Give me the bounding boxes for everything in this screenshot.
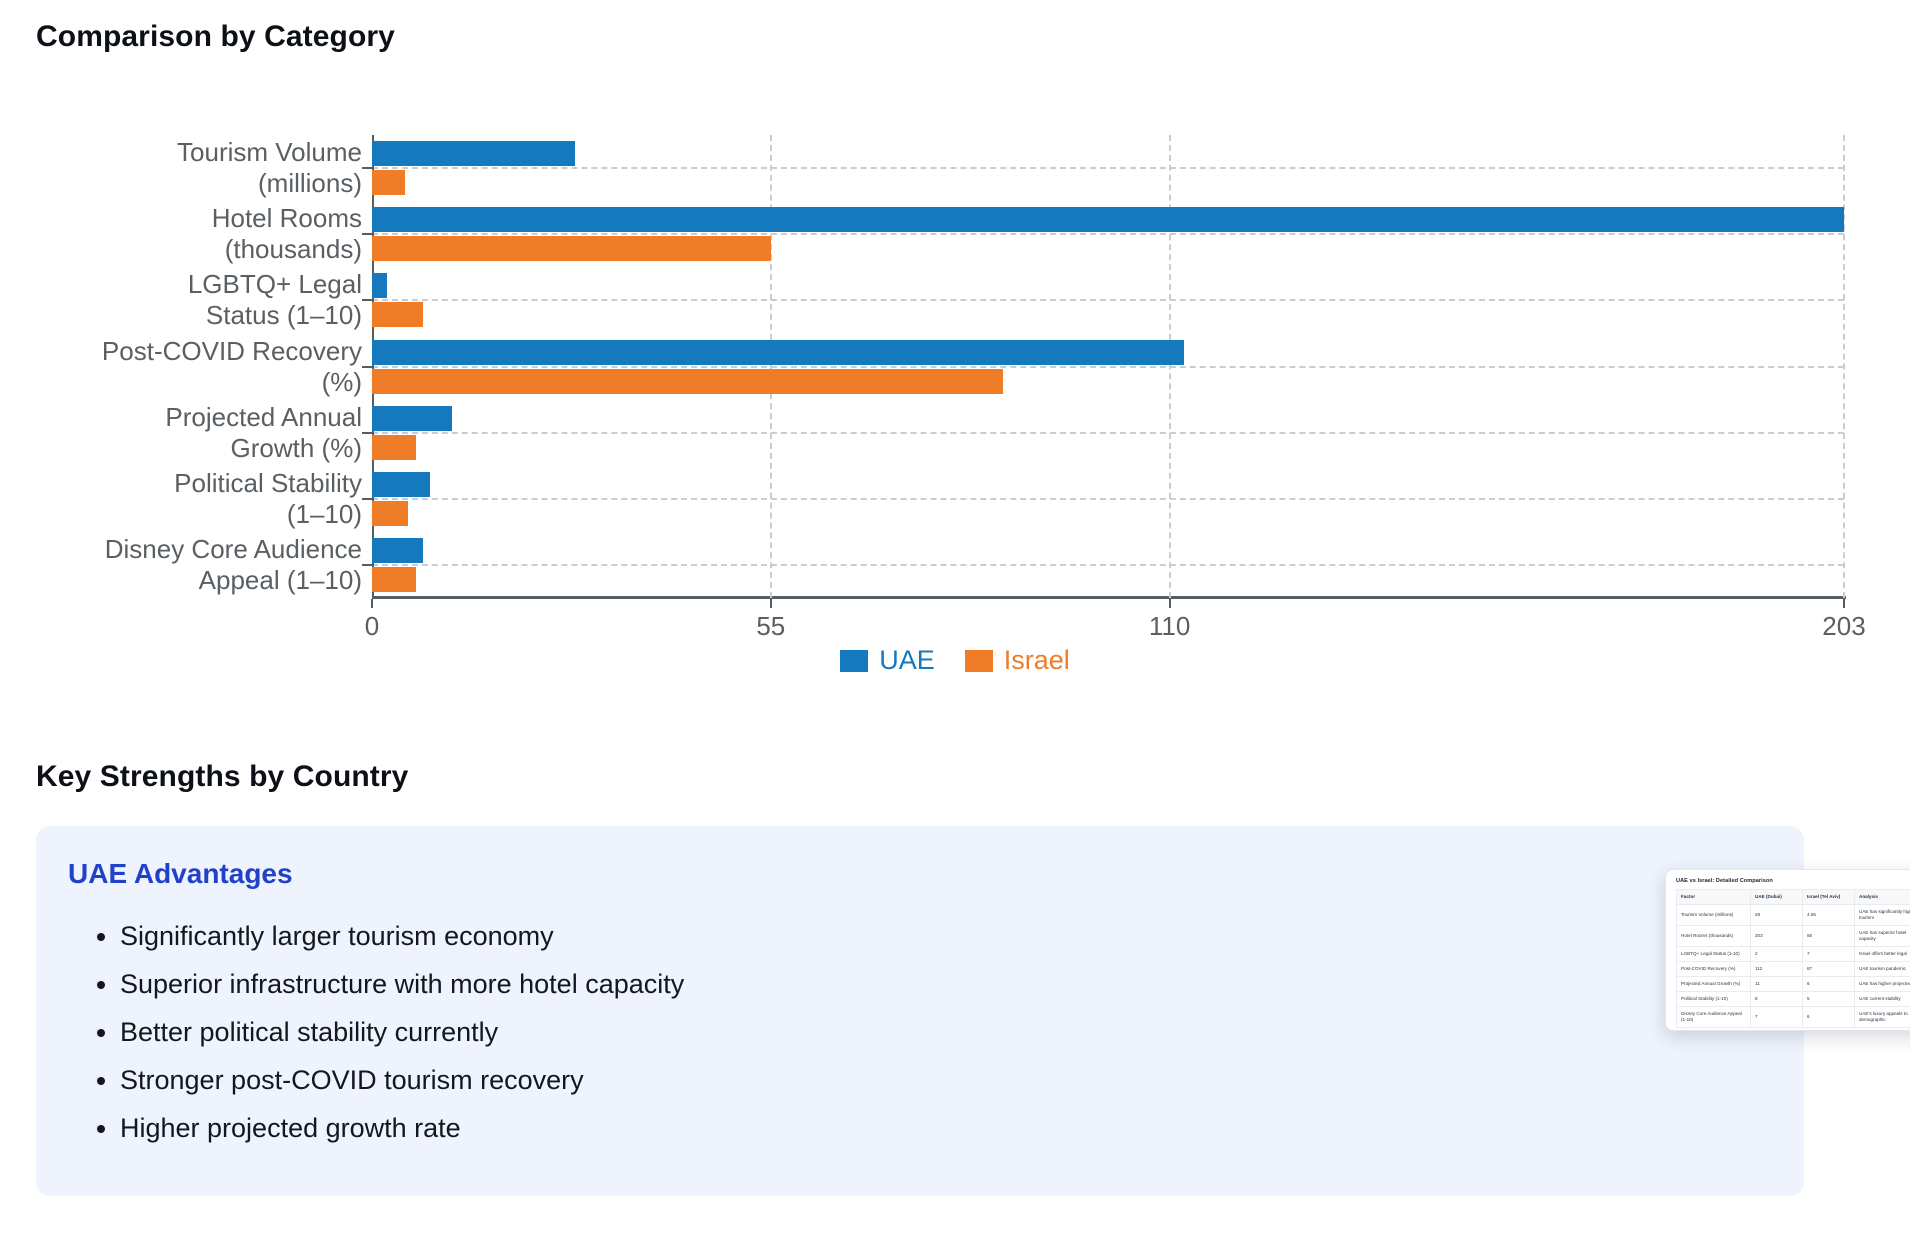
- y-axis-label-3: Post-COVID Recovery (%): [0, 336, 362, 398]
- page-title: Comparison by Category: [36, 20, 395, 54]
- table-cell: 87: [1803, 962, 1855, 977]
- table-cell: Disney Core Audience Appeal (1-10): [1677, 1007, 1751, 1028]
- panel-heading: UAE Advantages: [68, 858, 293, 890]
- bar-israel-5[interactable]: [372, 501, 408, 526]
- bar-uae-0[interactable]: [372, 141, 575, 166]
- gridline-y-5: [372, 498, 1844, 500]
- y-axis-label-5: Political Stability (1–10): [0, 468, 362, 530]
- bar-israel-6[interactable]: [372, 567, 416, 592]
- thumbnail-table: FactorUAE (Dubai)Israel (Tel Aviv)Analys…: [1676, 889, 1910, 1028]
- x-tick-110: [1169, 599, 1171, 608]
- bar-uae-3[interactable]: [372, 340, 1184, 365]
- legend-item-uae[interactable]: UAE: [840, 645, 935, 676]
- gridline-y-6: [372, 564, 1844, 566]
- x-tick-55: [770, 599, 772, 608]
- table-cell: 6: [1803, 977, 1855, 992]
- y-axis-label-4: Projected Annual Growth (%): [0, 402, 362, 464]
- table-cell: UAE has higher projected: [1855, 977, 1910, 992]
- legend-swatch-uae: [840, 650, 868, 672]
- table-cell: 56: [1803, 926, 1855, 947]
- table-column-header: Israel (Tel Aviv): [1803, 890, 1855, 905]
- table-cell: 112: [1751, 962, 1803, 977]
- x-tick-label-203: 203: [1822, 611, 1865, 642]
- x-tick-label-55: 55: [756, 611, 785, 642]
- legend-swatch-israel: [965, 650, 993, 672]
- x-tick-0: [371, 599, 373, 608]
- y-tick-4: [362, 432, 374, 434]
- y-axis-label-2: LGBTQ+ Legal Status (1–10): [0, 269, 362, 331]
- gridline-y-4: [372, 432, 1844, 434]
- bar-israel-2[interactable]: [372, 302, 423, 327]
- table-column-header: UAE (Dubai): [1751, 890, 1803, 905]
- table-cell: Hotel Rooms (thousands): [1677, 926, 1751, 947]
- y-axis-label-0: Tourism Volume (millions): [0, 137, 362, 199]
- bar-uae-5[interactable]: [372, 472, 430, 497]
- table-cell: 28: [1751, 905, 1803, 926]
- table-cell: Post-COVID Recovery (%): [1677, 962, 1751, 977]
- x-tick-label-0: 0: [365, 611, 379, 642]
- bar-israel-1[interactable]: [372, 236, 771, 261]
- strengths-section-title: Key Strengths by Country: [36, 760, 408, 794]
- advantage-item: Stronger post-COVID tourism recovery: [120, 1056, 684, 1104]
- y-tick-5: [362, 498, 374, 500]
- table-body: Tourism Volume (millions)284.55UAE has s…: [1677, 905, 1910, 1028]
- detailed-comparison-thumbnail[interactable]: UAE vs Israel: Detailed Comparison Facto…: [1665, 869, 1910, 1031]
- x-tick-label-110: 110: [1149, 611, 1190, 642]
- bar-uae-6[interactable]: [372, 538, 423, 563]
- table-cell: UAE has superior hotel capacity: [1855, 926, 1910, 947]
- table-cell: 2: [1751, 947, 1803, 962]
- gridline-y-2: [372, 299, 1844, 301]
- table-cell: 203: [1751, 926, 1803, 947]
- table-column-header: Factor: [1677, 890, 1751, 905]
- uae-advantages-panel: UAE Advantages Significantly larger tour…: [36, 826, 1804, 1196]
- x-tick-203: [1843, 599, 1845, 608]
- y-tick-3: [362, 366, 374, 368]
- bar-uae-1[interactable]: [372, 207, 1844, 232]
- table-row: Hotel Rooms (thousands)20356UAE has supe…: [1677, 926, 1910, 947]
- y-axis-label-1: Hotel Rooms (thousands): [0, 203, 362, 265]
- y-tick-1: [362, 233, 374, 235]
- x-axis-line: [372, 596, 1846, 599]
- chart-legend: UAE Israel: [0, 645, 1910, 676]
- table-cell: 7: [1803, 947, 1855, 962]
- comparison-bar-chart: Tourism Volume (millions)Hotel Rooms (th…: [0, 95, 1910, 675]
- table-cell: UAE's luxury appeals to demographic: [1855, 1007, 1910, 1028]
- bar-israel-3[interactable]: [372, 369, 1003, 394]
- table-cell: 8: [1751, 992, 1803, 1007]
- table-cell: 6: [1803, 1007, 1855, 1028]
- advantage-item: Superior infrastructure with more hotel …: [120, 960, 684, 1008]
- page-root: Comparison by Category Tourism Volume (m…: [0, 0, 1910, 1236]
- bar-israel-0[interactable]: [372, 170, 405, 195]
- table-cell: Political Stability (1-10): [1677, 992, 1751, 1007]
- bar-uae-4[interactable]: [372, 406, 452, 431]
- table-cell: UAE has significantly higher tourism: [1855, 905, 1910, 926]
- table-cell: 11: [1751, 977, 1803, 992]
- gridline-y-3: [372, 366, 1844, 368]
- legend-label-israel: Israel: [1004, 645, 1070, 676]
- table-row: Disney Core Audience Appeal (1-10)76UAE'…: [1677, 1007, 1910, 1028]
- legend-item-israel[interactable]: Israel: [965, 645, 1070, 676]
- table-cell: Tourism Volume (millions): [1677, 905, 1751, 926]
- y-tick-6: [362, 564, 374, 566]
- table-row: LGBTQ+ Legal Status (1-10)27Israel offer…: [1677, 947, 1910, 962]
- y-tick-0: [362, 167, 374, 169]
- bar-israel-4[interactable]: [372, 435, 416, 460]
- y-tick-2: [362, 299, 374, 301]
- table-cell: 7: [1751, 1007, 1803, 1028]
- advantages-list: Significantly larger tourism economySupe…: [82, 912, 684, 1152]
- bar-uae-2[interactable]: [372, 273, 387, 298]
- table-cell: LGBTQ+ Legal Status (1-10): [1677, 947, 1751, 962]
- table-header-row: FactorUAE (Dubai)Israel (Tel Aviv)Analys…: [1677, 890, 1910, 905]
- thumbnail-title: UAE vs Israel: Detailed Comparison: [1676, 878, 1910, 884]
- gridline-y-0: [372, 167, 1844, 169]
- advantage-item: Higher projected growth rate: [120, 1104, 684, 1152]
- gridline-y-1: [372, 233, 1844, 235]
- table-row: Political Stability (1-10)85UAE current …: [1677, 992, 1910, 1007]
- table-column-header: Analysis: [1855, 890, 1910, 905]
- table-cell: Israel offers better legal: [1855, 947, 1910, 962]
- table-cell: 5: [1803, 992, 1855, 1007]
- advantage-item: Significantly larger tourism economy: [120, 912, 684, 960]
- y-axis-label-6: Disney Core Audience Appeal (1–10): [0, 534, 362, 596]
- table-row: Projected Annual Growth (%)116UAE has hi…: [1677, 977, 1910, 992]
- table-cell: 4.55: [1803, 905, 1855, 926]
- table-cell: UAE tourism pandemic: [1855, 962, 1910, 977]
- table-row: Tourism Volume (millions)284.55UAE has s…: [1677, 905, 1910, 926]
- table-cell: Projected Annual Growth (%): [1677, 977, 1751, 992]
- table-row: Post-COVID Recovery (%)11287UAE tourism …: [1677, 962, 1910, 977]
- legend-label-uae: UAE: [879, 645, 935, 676]
- table-cell: UAE current stability: [1855, 992, 1910, 1007]
- advantage-item: Better political stability currently: [120, 1008, 684, 1056]
